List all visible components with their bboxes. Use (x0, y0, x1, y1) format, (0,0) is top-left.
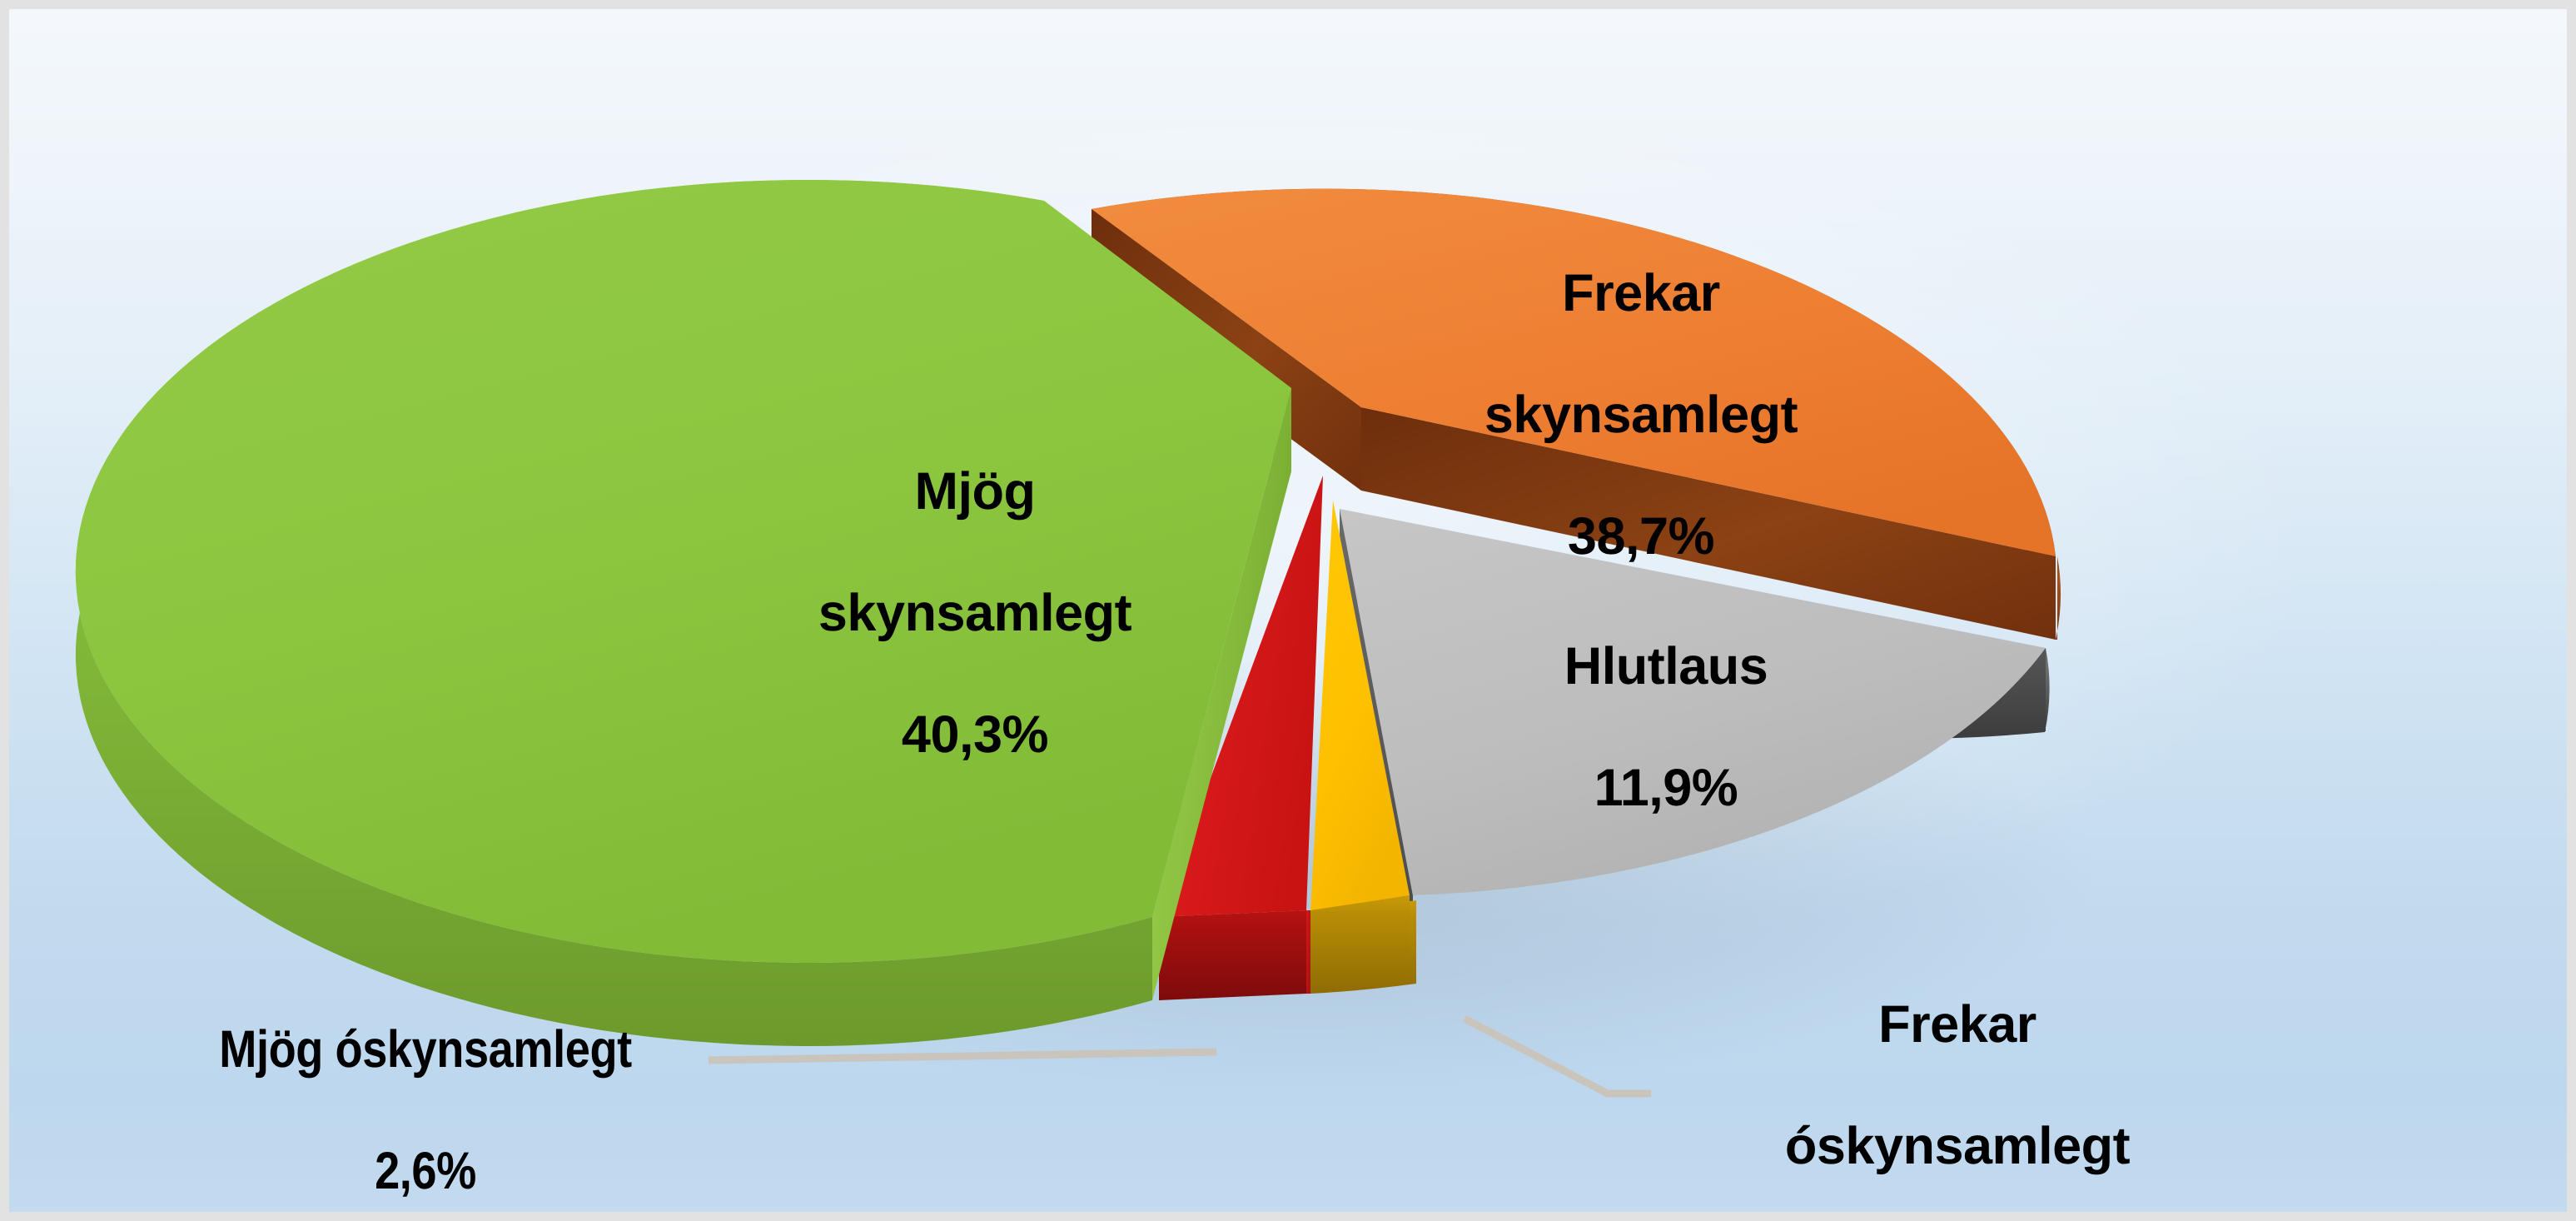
slice-label-mjog-oskynsamlegt-value: 2,6% (139, 1141, 712, 1202)
slice-label-frekar-skynsamlegt-line2: skynsamlegt (1383, 385, 1899, 446)
slice-label-mjog-skynsamlegt-line2: skynsamlegt (742, 583, 1208, 644)
chart-canvas: Frekar skynsamlegt 38,7% Mjög skynsamleg… (0, 0, 2576, 1221)
pie-slice-mjog-oskynsamlegt-side (1159, 910, 1306, 1000)
slice-label-mjog-skynsamlegt-line1: Mjög (742, 461, 1208, 522)
slice-label-frekar-skynsamlegt: Frekar skynsamlegt 38,7% (1383, 202, 1899, 629)
pie-slice-mjog-oskynsamlegt-cut (1306, 910, 1310, 994)
pie-slice-frekar-oskynsamlegt-cutleft (1310, 895, 1410, 994)
slice-label-frekar-skynsamlegt-line1: Frekar (1383, 263, 1899, 324)
slice-label-frekar-oskynsamlegt: Frekar óskynsamlegt 6,5% (1741, 934, 2174, 1221)
slice-label-mjog-oskynsamlegt: Mjög óskynsamlegt 2,6% (139, 959, 712, 1221)
slice-label-hlutlaus: Hlutlaus 11,9% (1508, 576, 1824, 880)
pie-slice-frekar-skynsamlegt-rim (2056, 556, 2061, 640)
slice-label-frekar-skynsamlegt-value: 38,7% (1383, 506, 1899, 567)
slice-label-mjog-oskynsamlegt-line1: Mjög óskynsamlegt (139, 1019, 712, 1080)
slice-label-mjog-skynsamlegt: Mjög skynsamlegt 40,3% (742, 401, 1208, 827)
slice-label-mjog-skynsamlegt-value: 40,3% (742, 705, 1208, 765)
slice-label-frekar-oskynsamlegt-line1: Frekar (1741, 994, 2174, 1055)
slice-label-hlutlaus-value: 11,9% (1508, 758, 1824, 819)
slice-label-frekar-oskynsamlegt-line2: óskynsamlegt (1741, 1116, 2174, 1177)
slice-label-hlutlaus-line1: Hlutlaus (1508, 636, 1824, 697)
